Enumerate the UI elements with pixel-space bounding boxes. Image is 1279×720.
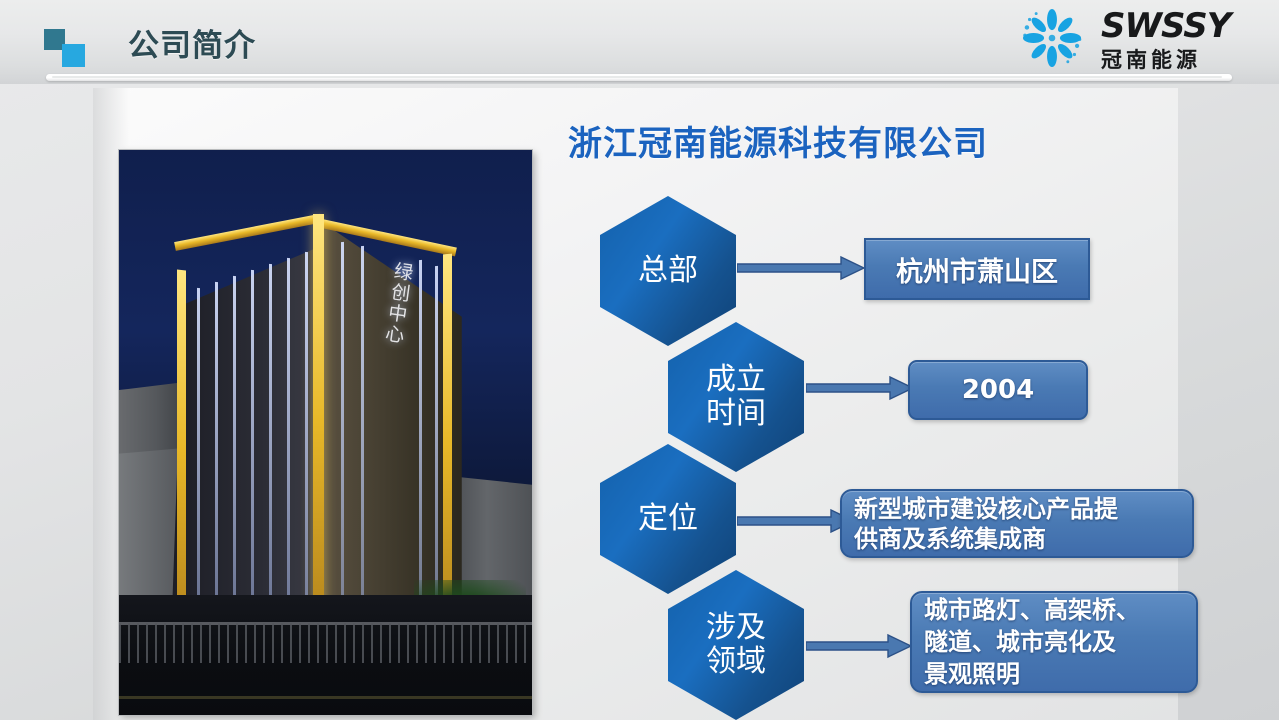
logo-brand-cn: 冠南能源: [1101, 44, 1230, 74]
arrow-right-icon-2: [806, 375, 914, 401]
hex-text: 成立 时间: [706, 363, 766, 431]
arrow-right-icon-4: [806, 633, 912, 659]
page-title: 公司简介: [128, 20, 256, 65]
hex-text: 涉及 领域: [706, 611, 766, 679]
hex-text: 总部: [638, 254, 698, 288]
logo-wordmark: SWSSY 冠南能源: [1101, 6, 1230, 74]
value-box-headquarters[interactable]: 杭州市萧山区: [864, 238, 1090, 300]
company-logo: SWSSY 冠南能源: [1006, 2, 1261, 74]
value-box-founding-year[interactable]: 2004: [908, 360, 1088, 420]
value-text: 2004: [962, 375, 1034, 405]
hex-text: 定位: [638, 502, 698, 536]
value-text-line1: 城市路灯、高架桥、: [924, 595, 1140, 624]
value-text-line2: 供商及系统集成商: [854, 524, 1046, 553]
value-text: 杭州市萧山区: [896, 250, 1058, 289]
hex-text-line1: 成立: [706, 363, 766, 396]
water-droplet-petals-icon: [1006, 5, 1098, 71]
road-marking: [119, 696, 532, 699]
decor-square-light-icon: [62, 44, 85, 67]
arrow-right-icon-1: [737, 255, 865, 281]
hex-text-line2: 时间: [706, 397, 766, 430]
value-box-positioning[interactable]: 新型城市建设核心产品提 供商及系统集成商: [840, 489, 1194, 558]
slide: 公司简介: [0, 0, 1279, 720]
value-text-line2: 隧道、城市亮化及: [924, 627, 1116, 656]
value-text: 城市路灯、高架桥、 隧道、城市亮化及 景观照明: [924, 594, 1140, 690]
hex-text-line1: 涉及: [706, 611, 766, 644]
value-text-line1: 新型城市建设核心产品提: [854, 494, 1118, 523]
company-name-heading: 浙江冠南能源科技有限公司: [568, 116, 988, 165]
street-fence: [119, 623, 532, 663]
gold-edge-top-left: [174, 214, 321, 251]
value-box-fields[interactable]: 城市路灯、高架桥、 隧道、城市亮化及 景观照明: [910, 591, 1198, 693]
header-divider: [46, 74, 1232, 81]
value-text: 新型城市建设核心产品提 供商及系统集成商: [854, 494, 1118, 554]
hex-text-line2: 领域: [706, 645, 766, 678]
arrow-right-icon-3: [737, 508, 855, 534]
building-photo: 绿创中心 绿创中心 LVCHUANG CENTER: [119, 150, 532, 715]
logo-brand-latin: SWSSY: [1101, 6, 1230, 46]
slide-header: 公司简介: [0, 0, 1279, 84]
value-text-line3: 景观照明: [924, 659, 1020, 688]
